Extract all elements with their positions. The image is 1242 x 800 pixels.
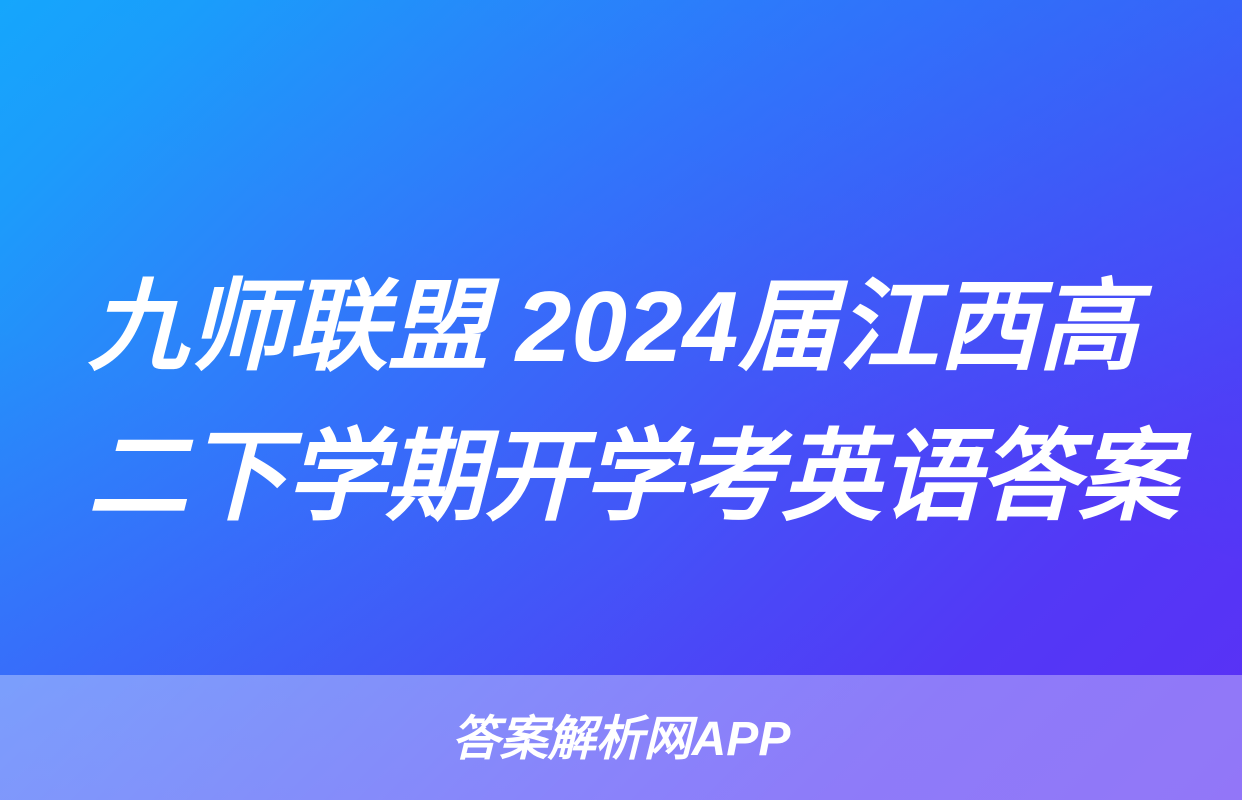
page-title-line-1: 九师联盟 2024届江西高: [88, 252, 1178, 402]
footer-banner: 答案解析网APP: [0, 675, 1242, 800]
app-brand-label: 答案解析网APP: [452, 716, 791, 764]
poster-canvas: 九师联盟 2024届江西高 二下学期开学考英语答案 答案解析网APP: [0, 0, 1242, 800]
page-title: 九师联盟 2024届江西高 二下学期开学考英语答案: [88, 252, 1178, 552]
page-title-line-2: 二下学期开学考英语答案: [88, 402, 1178, 552]
